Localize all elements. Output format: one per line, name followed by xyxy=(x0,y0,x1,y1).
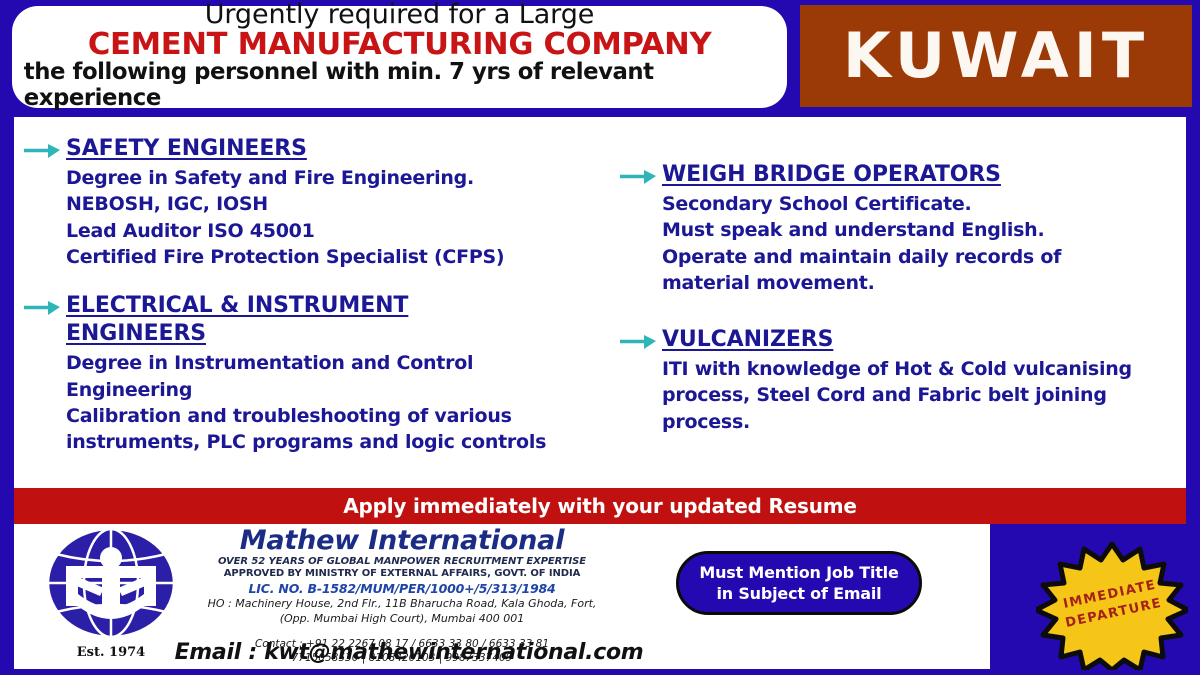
job-requirements: Degree in Safety and Fire Engineering. N… xyxy=(66,165,604,270)
arrow-bullet-icon xyxy=(22,296,62,318)
job-requirement-line: Must speak and understand English. xyxy=(662,217,1186,243)
company-tagline-approval: APPROVED BY MINISTRY OF EXTERNAL AFFAIRS… xyxy=(192,568,612,581)
job-listing-electrical-instrument-engineers: ELECTRICAL & INSTRUMENT ENGINEERS Degree… xyxy=(14,292,604,455)
jobs-panel: SAFETY ENGINEERS Degree in Safety and Fi… xyxy=(14,117,1186,488)
job-requirements: Degree in Instrumentation and Control En… xyxy=(66,350,604,455)
job-requirement-line: NEBOSH, IGC, IOSH xyxy=(66,191,604,217)
job-title: SAFETY ENGINEERS xyxy=(66,135,604,163)
header-line-1: Urgently required for a Large xyxy=(205,1,595,29)
header-line-3: the following personnel with min. 7 yrs … xyxy=(24,60,775,111)
company-address-line-2: (Opp. Mumbai High Court), Mumbai 400 001 xyxy=(192,612,612,627)
must-mention-job-title-note: Must Mention Job Title in Subject of Ema… xyxy=(676,551,922,615)
country-name: KUWAIT xyxy=(843,25,1149,87)
job-requirement-line: Secondary School Certificate. xyxy=(662,191,1186,217)
job-requirement-line: Degree in Safety and Fire Engineering. xyxy=(66,165,604,191)
apply-now-banner: Apply immediately with your updated Resu… xyxy=(14,488,1186,524)
company-tagline-experience: OVER 52 YEARS OF GLOBAL MANPOWER RECRUIT… xyxy=(192,556,612,569)
arrow-bullet-icon xyxy=(22,139,62,161)
company-address-line-1: HO : Machinery House, 2nd Flr., 11B Bhar… xyxy=(192,597,612,612)
job-listing-weigh-bridge-operators: WEIGH BRIDGE OPERATORS Secondary School … xyxy=(610,161,1186,296)
country-badge: KUWAIT xyxy=(800,5,1192,107)
job-requirement-line: Certified Fire Protection Specialist (CF… xyxy=(66,244,604,270)
job-requirements: ITI with knowledge of Hot & Cold vulcani… xyxy=(662,356,1186,435)
job-requirement-line: Operate and maintain daily records of ma… xyxy=(662,244,1112,296)
apply-now-text: Apply immediately with your updated Resu… xyxy=(343,494,857,518)
job-title: ELECTRICAL & INSTRUMENT ENGINEERS xyxy=(66,292,496,348)
job-title: WEIGH BRIDGE OPERATORS xyxy=(662,161,1186,189)
mention-line-1: Must Mention Job Title xyxy=(699,562,898,583)
jobs-column-left: SAFETY ENGINEERS Degree in Safety and Fi… xyxy=(14,117,604,455)
job-title: VULCANIZERS xyxy=(662,326,1186,354)
arrow-bullet-icon xyxy=(618,330,658,352)
footer-panel: Est. 1974 Mathew International OVER 52 Y… xyxy=(14,524,990,669)
job-advertisement-poster: Urgently required for a Large CEMENT MAN… xyxy=(0,0,1200,675)
mention-line-2: in Subject of Email xyxy=(717,583,882,604)
company-logo: Est. 1974 xyxy=(36,526,186,666)
company-name: Mathew International xyxy=(192,526,612,556)
job-listing-vulcanizers: VULCANIZERS ITI with knowledge of Hot & … xyxy=(610,326,1186,435)
logo-established-year: Est. 1974 xyxy=(36,645,186,660)
job-listing-safety-engineers: SAFETY ENGINEERS Degree in Safety and Fi… xyxy=(14,135,604,270)
company-email[interactable]: Email : kwt@mathewinternational.com xyxy=(174,640,644,665)
job-requirement-line: Calibration and troubleshooting of vario… xyxy=(66,403,586,455)
header-company-type: CEMENT MANUFACTURING COMPANY xyxy=(88,29,711,61)
job-requirements: Secondary School Certificate. Must speak… xyxy=(662,191,1186,296)
jobs-column-right: WEIGH BRIDGE OPERATORS Secondary School … xyxy=(610,117,1186,435)
company-license-number: LIC. NO. B-1582/MUM/PER/1000+/5/313/1984 xyxy=(192,581,612,597)
globe-logo-icon xyxy=(36,526,186,644)
immediate-departure-badge: IMMEDIATE DEPARTURE xyxy=(1036,540,1188,670)
job-requirement-line: ITI with knowledge of Hot & Cold vulcani… xyxy=(662,356,1182,435)
header-banner: Urgently required for a Large CEMENT MAN… xyxy=(12,6,787,108)
job-requirement-line: Lead Auditor ISO 45001 xyxy=(66,218,604,244)
arrow-bullet-icon xyxy=(618,165,658,187)
job-requirement-line: Degree in Instrumentation and Control En… xyxy=(66,350,546,402)
